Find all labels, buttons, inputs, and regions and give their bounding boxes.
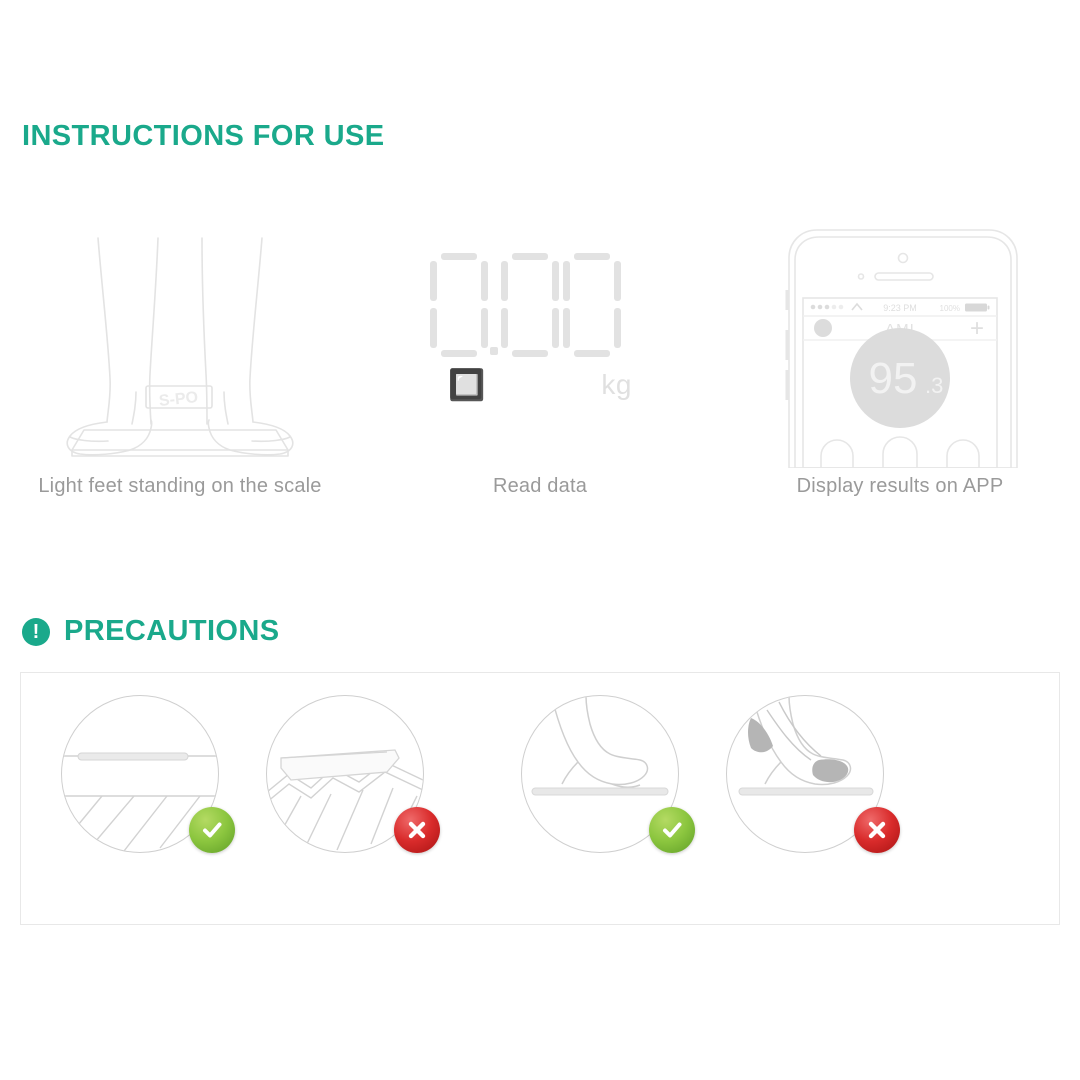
avatar-icon: [814, 319, 832, 337]
smartphone-app-icon: 9:23 PM 100% AMI +: [775, 218, 1025, 468]
check-circle-icon: [189, 807, 235, 853]
lcd-unit-label: kg: [601, 371, 632, 401]
phone-weight-value: 95: [869, 354, 918, 403]
phone-battery-percent: 100%: [940, 304, 960, 313]
precautions-items: [61, 695, 931, 855]
steps-row: S-PO Light feet standing on the scale: [0, 210, 1080, 540]
precautions-heading: PRECAUTIONS: [64, 615, 279, 648]
lcd-digit-2: [501, 253, 559, 357]
wifi-icon: [852, 304, 862, 310]
step-read-data-art: 🔲 kg 0.00: [360, 210, 720, 475]
step-standing-art: S-PO: [0, 210, 360, 475]
phone-clock: 9:23 PM: [883, 303, 917, 313]
check-circle-icon: [649, 807, 695, 853]
phone-add-button: +: [970, 315, 984, 342]
phone-status-bar: 9:23 PM 100%: [811, 303, 990, 313]
instructions-heading: INSTRUCTIONS FOR USE: [22, 120, 384, 153]
step-display-app-caption: Display results on APP: [797, 475, 1004, 498]
instruction-poster: INSTRUCTIONS FOR USE: [0, 0, 1080, 1080]
feet-on-scale-icon: S-PO: [50, 218, 310, 468]
cross-circle-icon: [854, 807, 900, 853]
scale-brand-label: S-PO: [158, 389, 199, 410]
lcd-decimal-point: [490, 347, 498, 355]
lcd-digits: [430, 253, 625, 357]
precaution-carpet-floor: [266, 695, 426, 855]
bluetooth-icon: 🔲: [448, 371, 485, 401]
precautions-heading-group: ! PRECAUTIONS: [22, 615, 279, 648]
cross-circle-icon: [394, 807, 440, 853]
precaution-hard-flat-floor: [61, 695, 221, 855]
precautions-panel: [20, 672, 1060, 925]
step-standing: S-PO Light feet standing on the scale: [0, 210, 360, 540]
lcd-digit-1: [430, 253, 488, 357]
step-read-data-caption: Read data: [493, 475, 587, 498]
step-standing-caption: Light feet standing on the scale: [38, 475, 321, 498]
lcd-display-icon: 🔲 kg 0.00: [430, 253, 650, 433]
lcd-subrow: 🔲 kg: [430, 371, 650, 401]
signal-dots-icon: [811, 304, 844, 309]
step-read-data: 🔲 kg 0.00 Read data: [360, 210, 720, 540]
exclamation-circle-icon: !: [22, 618, 50, 646]
phone-weight-decimal: .3: [925, 373, 943, 398]
step-display-app: 9:23 PM 100% AMI +: [720, 210, 1080, 540]
lcd-digit-3: [563, 253, 621, 357]
battery-full-icon: [965, 303, 990, 311]
step-display-app-art: 9:23 PM 100% AMI +: [720, 210, 1080, 475]
precaution-bare-foot: [521, 695, 681, 855]
precaution-sock-foot: [726, 695, 886, 855]
